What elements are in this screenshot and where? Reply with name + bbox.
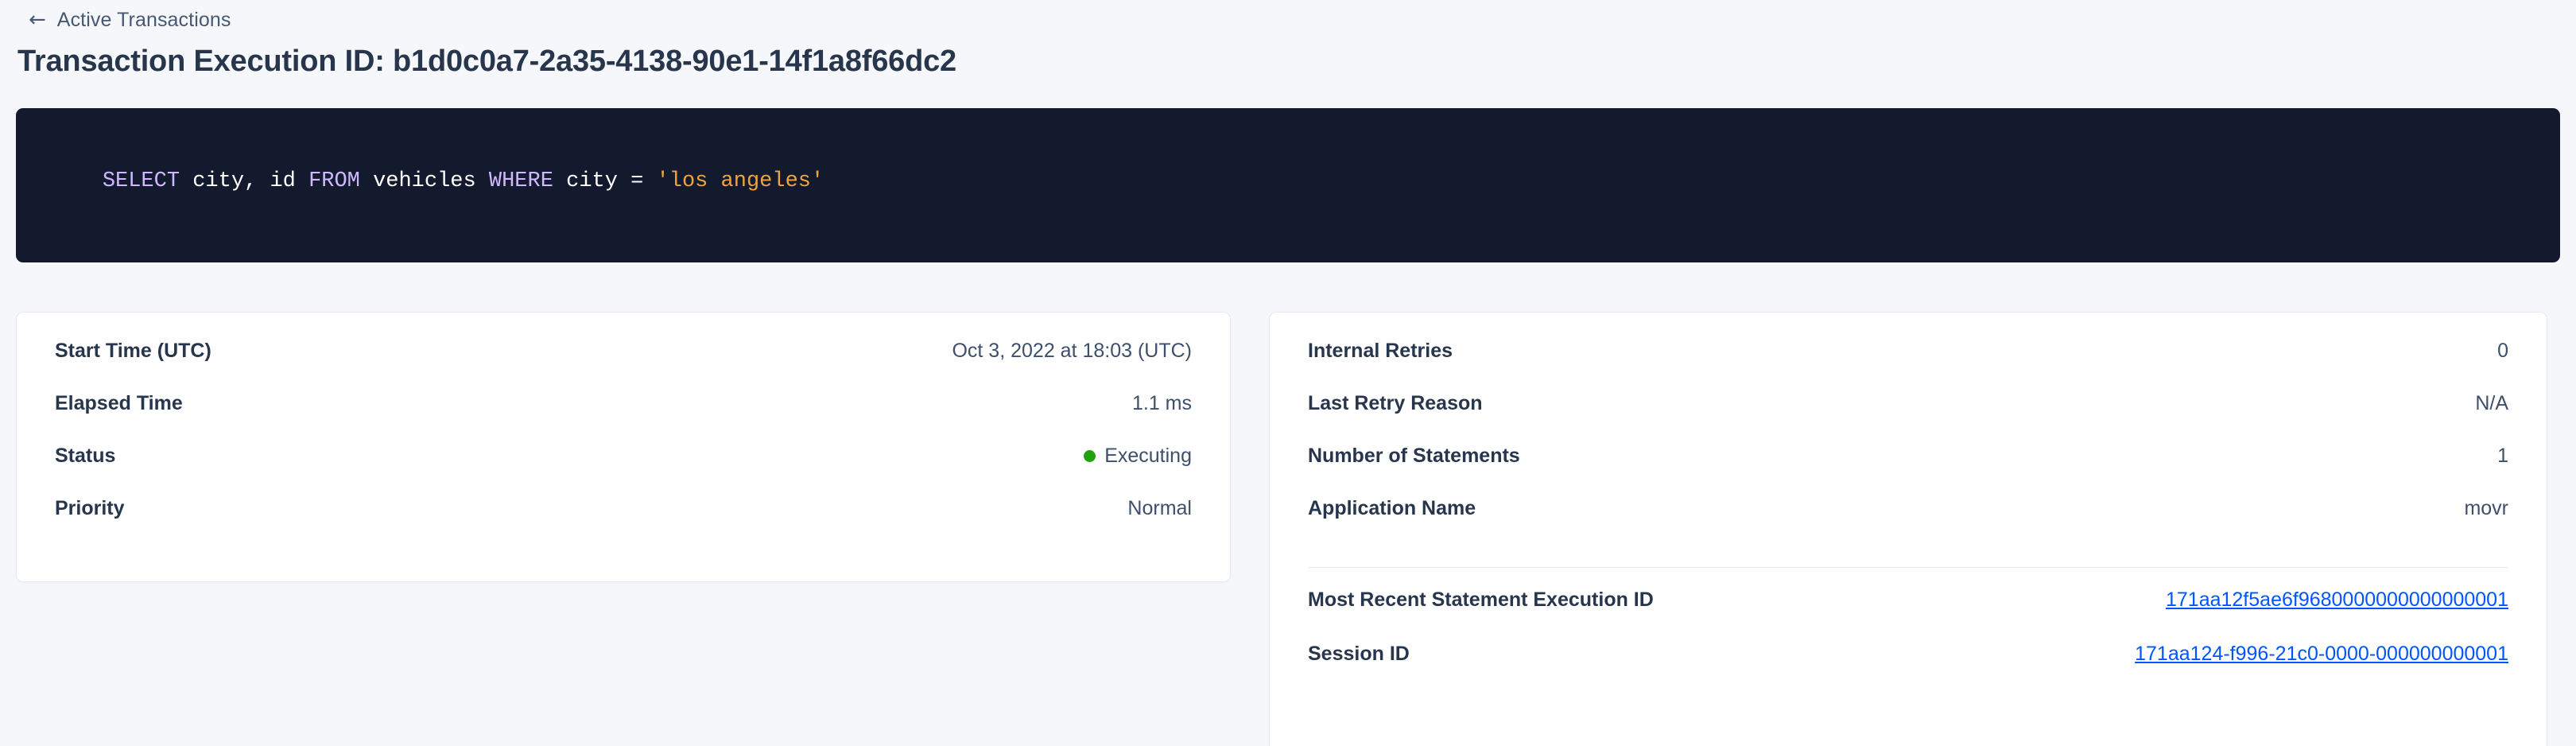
detail-cards: Start Time (UTC) Oct 3, 2022 at 18:03 (U… xyxy=(16,312,2560,746)
status-badge: Executing xyxy=(1084,445,1192,468)
sql-token-keyword: WHERE xyxy=(489,169,553,193)
table-row: Most Recent Statement Execution ID 171aa… xyxy=(1308,589,2508,643)
transaction-overview-card: Start Time (UTC) Oct 3, 2022 at 18:03 (U… xyxy=(16,312,1231,582)
table-row: Priority Normal xyxy=(55,497,1192,550)
row-value: movr xyxy=(2464,497,2508,520)
table-row: Status Executing xyxy=(55,445,1192,497)
row-label: Internal Retries xyxy=(1308,340,1453,363)
session-id-link[interactable]: 171aa124-f996-21c0-0000-000000000001 xyxy=(2135,643,2508,666)
breadcrumb-label[interactable]: Active Transactions xyxy=(57,9,231,32)
sql-code-block: SELECT city, id FROM vehicles WHERE city… xyxy=(16,108,2560,262)
sql-token-plain xyxy=(257,169,270,193)
row-value: 1.1 ms xyxy=(1132,392,1192,415)
row-value: 0 xyxy=(2497,340,2508,363)
sql-token-identifier: id xyxy=(270,169,295,193)
row-label: Application Name xyxy=(1308,497,1476,520)
table-row: Last Retry Reason N/A xyxy=(1308,392,2508,445)
sql-statement: SELECT city, id FROM vehicles WHERE city… xyxy=(103,169,824,193)
sql-token-plain xyxy=(476,169,489,193)
sql-token-identifier: city, xyxy=(192,169,257,193)
arrow-left-icon[interactable]: ← xyxy=(29,10,46,30)
sql-token-plain xyxy=(360,169,373,193)
table-row: Start Time (UTC) Oct 3, 2022 at 18:03 (U… xyxy=(55,340,1192,392)
row-value: Oct 3, 2022 at 18:03 (UTC) xyxy=(952,340,1192,363)
transaction-stats-card: Internal Retries 0 Last Retry Reason N/A… xyxy=(1269,312,2547,746)
table-row: Internal Retries 0 xyxy=(1308,340,2508,392)
row-value: 1 xyxy=(2497,445,2508,468)
row-label: Session ID xyxy=(1308,643,1410,666)
row-value: Normal xyxy=(1127,497,1192,520)
table-row: Session ID 171aa124-f996-21c0-0000-00000… xyxy=(1308,643,2508,697)
sql-token-plain xyxy=(553,169,566,193)
page-title: Transaction Execution ID: b1d0c0a7-2a35-… xyxy=(0,32,2576,79)
sql-token-plain xyxy=(643,169,656,193)
row-label: Status xyxy=(55,445,115,468)
sql-token-identifier: city xyxy=(566,169,618,193)
sql-token-plain xyxy=(618,169,630,193)
row-label: Most Recent Statement Execution ID xyxy=(1308,589,1654,612)
sql-token-operator: = xyxy=(630,169,643,193)
table-row: Elapsed Time 1.1 ms xyxy=(55,392,1192,445)
row-label: Elapsed Time xyxy=(55,392,183,415)
sql-token-keyword: FROM xyxy=(308,169,360,193)
row-label: Last Retry Reason xyxy=(1308,392,1483,415)
status-dot-icon xyxy=(1084,450,1096,462)
table-row: Number of Statements 1 xyxy=(1308,445,2508,497)
sql-token-plain xyxy=(296,169,308,193)
sql-token-string: 'los angeles' xyxy=(657,169,824,193)
row-label: Priority xyxy=(55,497,125,520)
row-value: N/A xyxy=(2475,392,2508,415)
transaction-detail-page: ← Active Transactions Transaction Execut… xyxy=(0,0,2576,746)
breadcrumb[interactable]: ← Active Transactions xyxy=(0,0,2576,32)
sql-token-identifier: vehicles xyxy=(373,169,476,193)
row-label: Number of Statements xyxy=(1308,445,1520,468)
sql-token-plain xyxy=(180,169,192,193)
statement-execution-id-link[interactable]: 171aa12f5ae6f9680000000000000001 xyxy=(2166,589,2508,612)
row-label: Start Time (UTC) xyxy=(55,340,211,363)
divider xyxy=(1308,567,2508,568)
status-label: Executing xyxy=(1104,445,1192,468)
table-row: Application Name movr xyxy=(1308,497,2508,550)
sql-token-keyword: SELECT xyxy=(103,169,180,193)
